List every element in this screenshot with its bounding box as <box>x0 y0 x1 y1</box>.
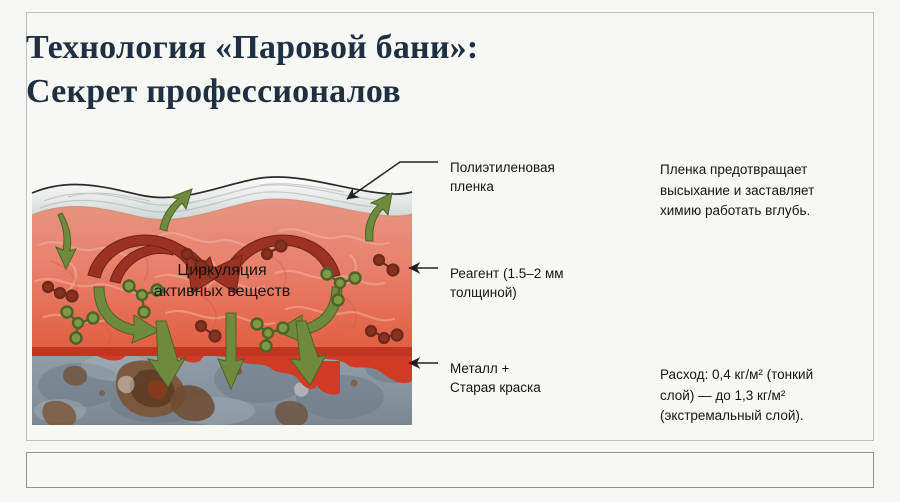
note-consumption: Расход: 0,4 кг/м² (тонкий слой) — до 1,3… <box>660 365 870 427</box>
callout-reagent: Реагент (1.5–2 мм толщиной) <box>450 264 630 302</box>
cross-section-illustration: Циркуляция активных веществ <box>10 135 440 425</box>
title-line-2: Секрет профессионалов <box>26 70 666 114</box>
center-label-line-2: активных веществ <box>154 283 291 300</box>
illustration-svg: Циркуляция активных веществ <box>10 135 440 425</box>
note-film-effect: Пленка предотвращает высыхание и заставл… <box>660 160 870 222</box>
callout-film: Полиэтиленовая пленка <box>450 158 630 196</box>
callout-metal: Металл + Старая краска <box>450 359 630 397</box>
bottom-bar <box>26 452 874 488</box>
center-label-line-1: Циркуляция <box>177 262 266 279</box>
title-line-1: Технология «Паровой бани»: <box>26 26 666 70</box>
page-title: Технология «Паровой бани»: Секрет профес… <box>26 26 666 113</box>
